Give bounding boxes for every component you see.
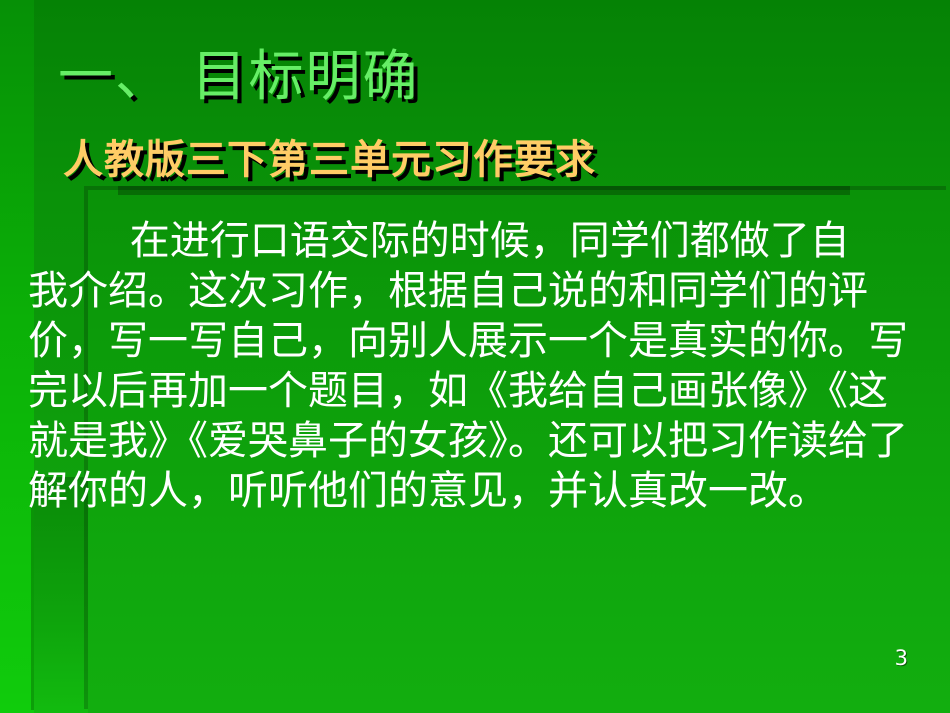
slide-title: 一、 目标明确 xyxy=(58,46,419,106)
subtitle-underline-bar xyxy=(118,186,850,195)
page-number: 3 xyxy=(895,646,908,670)
slide-body-text: 在进行口语交际的时候，同学们都做了自 我介绍。这次习作，根据自己说的和同学们的评… xyxy=(28,216,908,516)
presentation-slide: 一、 目标明确 人教版三下第三单元习作要求 在进行口语交际的时候，同学们都做了自… xyxy=(0,0,950,713)
slide-subtitle: 人教版三下第三单元习作要求 xyxy=(63,137,596,183)
